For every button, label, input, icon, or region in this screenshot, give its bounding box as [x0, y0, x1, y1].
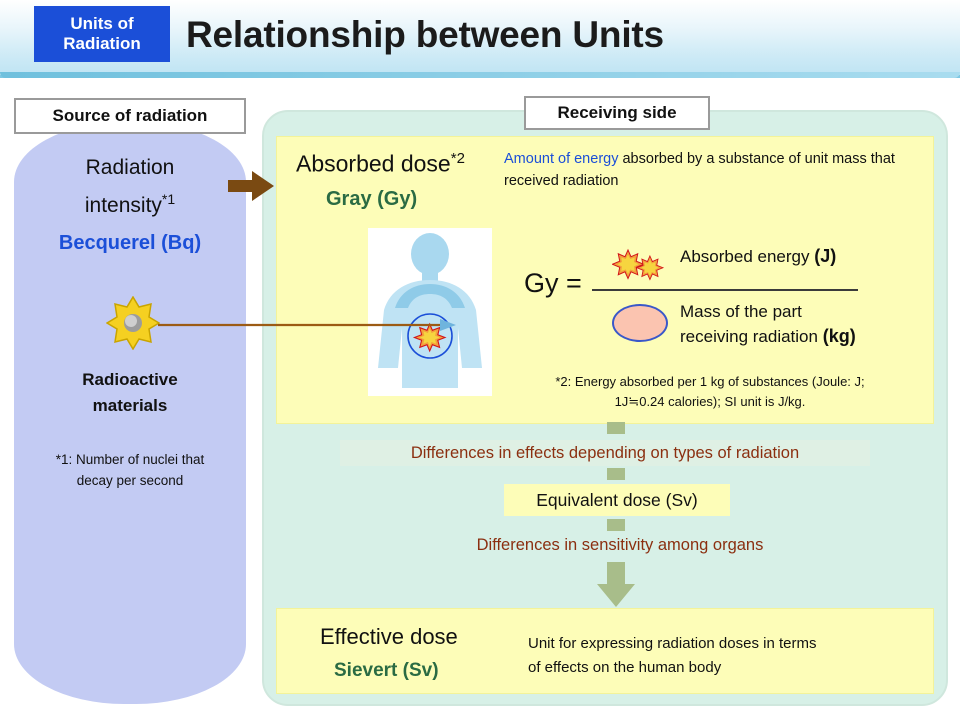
radiation-intensity-line1: Radiation	[14, 150, 246, 187]
page-title: Relationship between Units	[186, 14, 664, 56]
human-body-figure	[368, 228, 492, 396]
radioactive-materials-line2: materials	[14, 393, 246, 419]
radiation-intensity-text: Radiation intensity*1	[14, 150, 246, 225]
radiation-path-arrow-icon	[158, 318, 458, 332]
gray-equation-label: Gy =	[524, 268, 582, 299]
brown-arrow-icon	[226, 168, 276, 204]
footnote-1-line1: *1: Number of nuclei that	[20, 450, 240, 471]
flow-step-differences-types: Differences in effects depending on type…	[340, 440, 870, 466]
numerator-absorbed-energy: Absorbed energy (J)	[680, 246, 836, 267]
denominator-line2: receiving radiation	[680, 327, 823, 346]
radiation-intensity-line2: intensity*1	[14, 187, 246, 225]
category-tag: Units of Radiation	[34, 6, 170, 62]
footnote-2: *2: Energy absorbed per 1 kg of substanc…	[500, 372, 920, 411]
absorbed-dose-description: Amount of energy absorbed by a substance…	[504, 148, 924, 193]
effective-dose-description-line2: of effects on the human body	[528, 656, 926, 680]
effective-dose-description-line1: Unit for expressing radiation doses in t…	[528, 632, 926, 656]
flow-connector-1	[607, 422, 625, 434]
category-tag-line2: Radiation	[63, 34, 140, 54]
sievert-unit: Sievert (Sv)	[334, 660, 439, 682]
footnote-1-line2: decay per second	[20, 471, 240, 492]
absorbed-dose-title: Absorbed dose*2	[296, 150, 465, 178]
receiving-side-label: Receiving side	[524, 96, 710, 130]
radioactive-materials-label: Radioactive materials	[14, 367, 246, 418]
radioactive-star-icon	[106, 296, 160, 350]
footnote-marker-1: *1	[162, 191, 175, 207]
footnote-2-line2: 1J≒0.24 calories); SI unit is J/kg.	[500, 392, 920, 412]
denominator-mass: Mass of the part receiving radiation (kg…	[680, 301, 930, 349]
denominator-line1: Mass of the part	[680, 302, 802, 321]
flow-step-equivalent-dose: Equivalent dose (Sv)	[504, 484, 730, 516]
effective-dose-description: Unit for expressing radiation doses in t…	[528, 632, 926, 680]
down-arrow-icon	[596, 566, 636, 608]
radioactive-materials-line1: Radioactive	[14, 367, 246, 393]
fraction-line	[592, 289, 858, 291]
absorbed-dose-description-highlight: Amount of energy	[504, 151, 618, 167]
energy-burst-icon	[612, 248, 674, 288]
gray-unit: Gray (Gy)	[326, 188, 417, 211]
footnote-marker-2: *2	[451, 150, 465, 167]
header-underline	[0, 72, 960, 78]
becquerel-unit: Becquerel (Bq)	[14, 232, 246, 255]
footnote-1: *1: Number of nuclei that decay per seco…	[20, 450, 240, 492]
footnote-2-line1: *2: Energy absorbed per 1 kg of substanc…	[500, 372, 920, 392]
mass-oval-icon	[612, 304, 668, 342]
source-of-radiation-label: Source of radiation	[14, 98, 246, 134]
flow-connector-3	[607, 519, 625, 531]
effective-dose-title: Effective dose	[320, 624, 458, 650]
flow-connector-2	[607, 468, 625, 480]
flow-step-differences-sensitivity: Differences in sensitivity among organs	[400, 536, 840, 555]
category-tag-line1: Units of	[63, 14, 140, 34]
